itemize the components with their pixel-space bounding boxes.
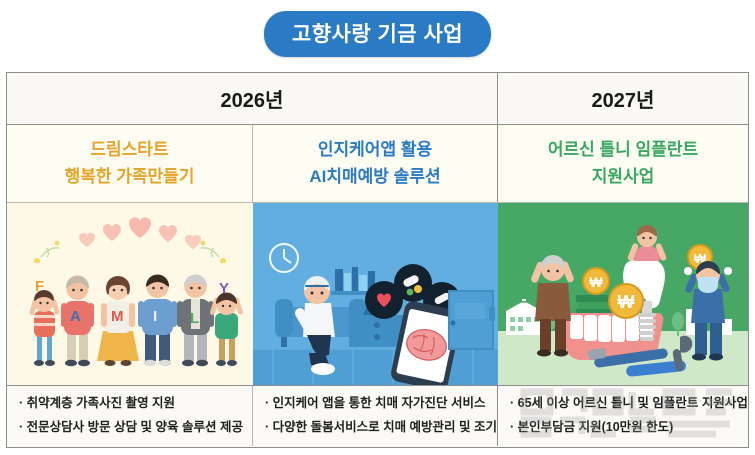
svg-text:₩: ₩ [589,274,603,290]
note-line: 취약계층 가족사진 촬영 지원 [19,392,246,416]
dental-implant-scene-icon: ₩ ₩ ₩ [498,203,748,385]
table-subtitle-row: 드림스타트 행복한 가족만들기 인지케어앱 활용 AI치매예방 솔루션 어르신 … [7,125,748,203]
family-photo-illustration: F A [7,203,253,385]
subtitle-cell-denture-implant: 어르신 틀니 임플란트 지원사업 [498,125,748,202]
family-group-illustration-icon: F A [7,249,253,377]
family-member-child-right: Y [209,280,243,366]
subtitle-line: AI치매예방 솔루션 [309,164,440,190]
subtitle-line: 드림스타트 [90,137,168,163]
table-header-row: 2026년 2027년 [7,73,748,125]
header-cell-2027: 2027년 [498,73,748,124]
note-line: 본인부담금 지원(10만원 한도) [510,416,742,440]
elderly-smartphone-scene-icon [253,203,498,385]
note-line: 다양한 돌봄서비스로 치매 예방관리 및 조기 대응 [265,416,491,440]
svg-text:I: I [153,308,157,325]
family-member-grandmother: A [61,276,94,367]
svg-text:L: L [190,310,199,327]
family-member-mother: M [97,276,139,366]
notes-cell-dreamstart: 취약계층 가족사진 촬영 지원 전문상담사 방문 상담 및 양육 솔루션 제공 [7,386,253,446]
wall-clock-icon [270,244,298,272]
door-icon [449,291,495,349]
note-line: 인지케어 앱을 통한 치매 자가진단 서비스 [265,392,491,416]
notes-cell-cognitive-care: 인지케어 앱을 통한 치매 자가진단 서비스 다양한 돌봄서비스로 치매 예방관… [253,386,498,446]
title-bar: 고향사랑 기금 사업 [0,11,755,57]
subtitle-line: 어르신 틀니 임플란트 [548,137,698,163]
subtitle-line: 지원사업 [592,164,655,190]
family-member-child-left: F [29,278,60,366]
svg-text:Y: Y [219,280,229,297]
table-notes-row: 취약계층 가족사진 촬영 지원 전문상담사 방문 상담 및 양육 솔루션 제공 … [7,385,748,446]
dental-implant-illustration: ₩ ₩ ₩ [498,203,748,385]
family-member-father: I [138,275,177,367]
notes-cell-denture-implant: 65세 이상 어르신 틀니 및 임플란트 지원사업 본인부담금 지원(10만원 … [498,386,748,446]
page-title: 고향사랑 기금 사업 [264,11,491,57]
dementia-care-app-illustration [253,203,498,385]
infographic-page: 고향사랑 기금 사업 2026년 2027년 드림스타트 행복한 가족만들기 인… [0,0,755,455]
family-member-grandfather: L [177,275,214,367]
program-table: 2026년 2027년 드림스타트 행복한 가족만들기 인지케어앱 활용 AI치… [6,72,749,448]
header-cell-2026: 2026년 [7,73,498,124]
table-illustration-row: F A [7,203,748,385]
svg-text:F: F [35,278,44,295]
svg-text:₩: ₩ [618,292,635,312]
svg-text:A: A [70,308,81,325]
note-line: 전문상담사 방문 상담 및 양육 솔루션 제공 [19,416,246,440]
svg-text:M: M [111,308,124,325]
subtitle-line: 행복한 가족만들기 [65,164,195,190]
note-line: 65세 이상 어르신 틀니 및 임플란트 지원사업 [510,392,742,416]
subtitle-cell-cognitive-care: 인지케어앱 활용 AI치매예방 솔루션 [253,125,498,202]
subtitle-cell-dreamstart: 드림스타트 행복한 가족만들기 [7,125,253,202]
subtitle-line: 인지케어앱 활용 [318,137,432,163]
